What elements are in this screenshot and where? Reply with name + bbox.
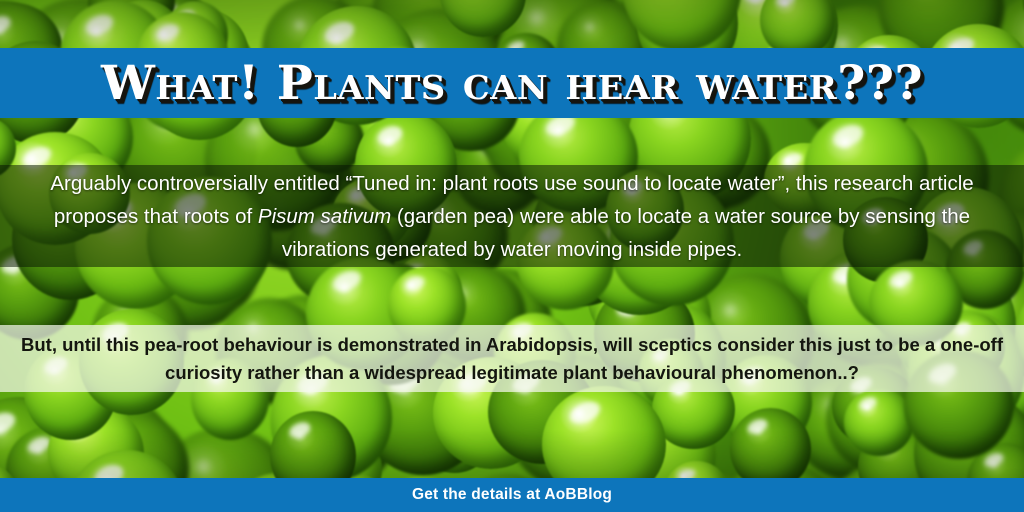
headline-title: What! Plants can hear water??? (101, 60, 923, 107)
summary-paragraph: Arguably controversially entitled “Tuned… (32, 167, 992, 266)
social-media-graphic: What! Plants can hear water??? Arguably … (0, 0, 1024, 512)
title-banner: What! Plants can hear water??? (0, 48, 1024, 118)
footer-banner[interactable]: Get the details at AoBBlog (0, 478, 1024, 512)
commentary-paragraph: But, until this pea-root behaviour is de… (7, 331, 1017, 387)
footer-call-to-action[interactable]: Get the details at AoBBlog (412, 486, 612, 504)
commentary-paragraph-banner: But, until this pea-root behaviour is de… (0, 325, 1024, 392)
species-name-italic: Pisum sativum (258, 205, 391, 228)
summary-paragraph-banner: Arguably controversially entitled “Tuned… (0, 165, 1024, 267)
